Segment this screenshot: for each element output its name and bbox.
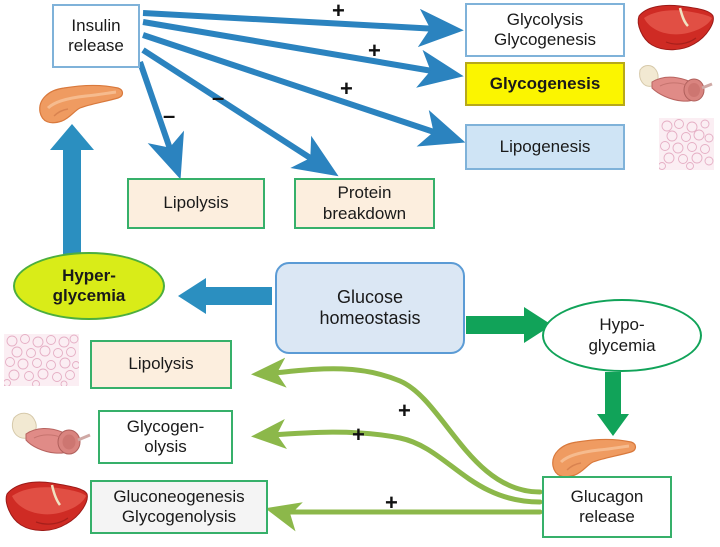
node-glucose-homeostasis[interactable]: Glucose homeostasis (275, 262, 465, 354)
diagram-canvas: Insulin release Glycolysis Glycogenesis … (0, 0, 720, 547)
adipose-tissue-icon (4, 334, 79, 386)
arrow-hyperglycemia-to-insulin (50, 124, 94, 258)
liver-icon (4, 478, 90, 534)
adipose-tissue-icon (659, 118, 714, 170)
arrow-hypoglycemia-to-glucagon (597, 372, 629, 436)
arrow-insulin-to-lipogenesis (143, 35, 458, 140)
arrow-glucagon-to-glycogenolysis (258, 432, 540, 502)
sign-plus-gluconeogenesis: + (385, 492, 398, 514)
pancreas-icon (547, 432, 639, 480)
node-hyperglycemia[interactable]: Hyper- glycemia (13, 252, 165, 320)
sign-plus-lipolysis-bottom: + (398, 400, 411, 422)
liver-icon (636, 2, 716, 54)
arrow-glucagon-to-lipolysis (258, 369, 540, 492)
pancreas-icon (34, 78, 126, 126)
node-lipolysis-bottom[interactable]: Lipolysis (90, 340, 232, 389)
muscle-icon (8, 408, 94, 460)
node-glycogenolysis[interactable]: Glycogen- olysis (98, 410, 233, 464)
sign-plus-glycolysis: + (332, 0, 345, 22)
muscle-icon (636, 58, 716, 108)
arrow-glucagon-to-gluconeogenesis (272, 510, 540, 512)
arrow-homeostasis-to-hypoglycemia (466, 307, 552, 343)
arrow-homeostasis-to-hyperglycemia (178, 278, 272, 314)
arrow-insulin-to-glycolysis (143, 13, 456, 30)
node-lipogenesis[interactable]: Lipogenesis (465, 124, 625, 170)
node-glycolysis-glycogenesis[interactable]: Glycolysis Glycogenesis (465, 3, 625, 57)
node-protein-breakdown[interactable]: Protein breakdown (294, 178, 435, 229)
arrow-insulin-to-glycogenesis (143, 22, 456, 75)
node-insulin-release[interactable]: Insulin release (52, 4, 140, 68)
node-glycogenesis[interactable]: Glycogenesis (465, 62, 625, 106)
node-gluconeogenesis-glycogenolysis[interactable]: Gluconeogenesis Glycogenolysis (90, 480, 268, 534)
node-glucagon-release[interactable]: Glucagon release (542, 476, 672, 538)
sign-plus-glycogenolysis: + (352, 424, 365, 446)
sign-plus-lipogenesis: + (340, 78, 353, 100)
node-lipolysis-top[interactable]: Lipolysis (127, 178, 265, 229)
sign-minus-protein-breakdown: – (212, 87, 224, 109)
node-hypoglycemia[interactable]: Hypo- glycemia (542, 299, 702, 372)
sign-minus-lipolysis: – (163, 105, 175, 127)
sign-plus-glycogenesis: + (368, 40, 381, 62)
